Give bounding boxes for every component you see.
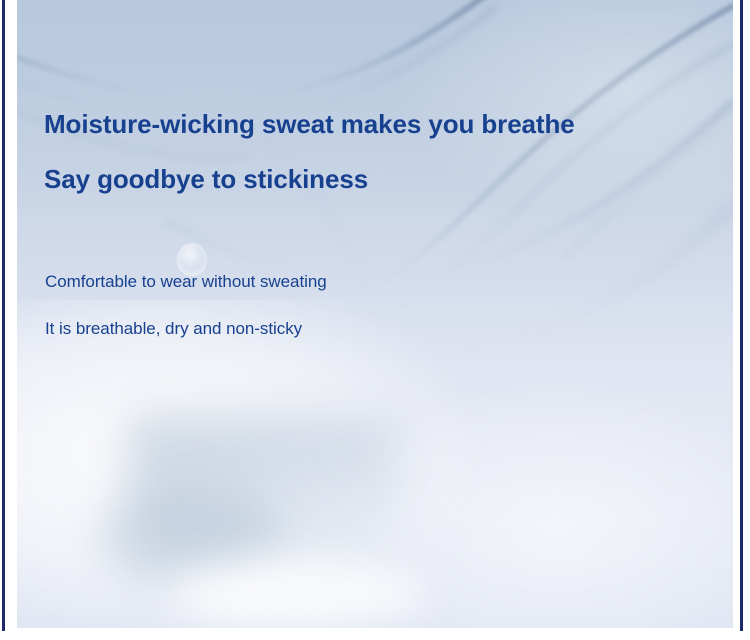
subtext-line-1: Comfortable to wear without sweating <box>45 272 327 292</box>
headline-line-1: Moisture-wicking sweat makes you breathe <box>44 109 575 140</box>
banner-image: Moisture-wicking sweat makes you breathe… <box>17 0 733 628</box>
subtext-line-2: It is breathable, dry and non-sticky <box>45 319 302 339</box>
left-frame-rule <box>2 0 5 631</box>
product-banner-page: Moisture-wicking sweat makes you breathe… <box>0 0 750 640</box>
blurred-fabric-highlight <box>167 560 427 628</box>
headline-line-2: Say goodbye to stickiness <box>44 164 368 195</box>
right-frame-rule <box>740 0 743 631</box>
